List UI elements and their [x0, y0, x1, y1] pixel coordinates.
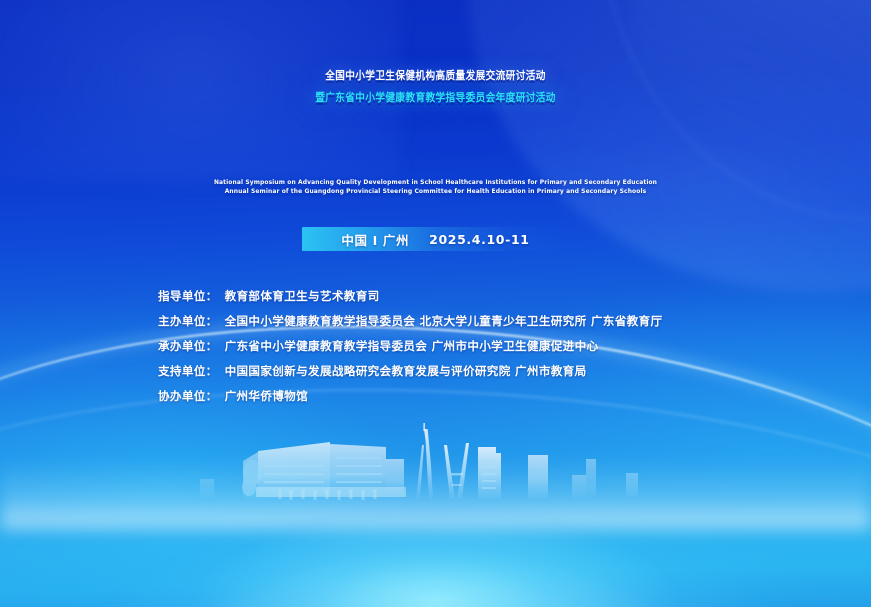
subtitle-line-2: Annual Seminar of the Guangdong Provinci… [0, 187, 871, 196]
subtitle-line-1: National Symposium on Advancing Quality … [0, 178, 871, 187]
organization-value: 教育部体育卫生与艺术教育司 [225, 288, 380, 304]
organization-label: 指导单位： [158, 288, 218, 304]
subtitle-block: National Symposium on Advancing Quality … [0, 178, 871, 197]
main-title-line-1: 全国中小学卫生保健机构高质量发展交流研讨活动 [0, 71, 871, 83]
organization-label: 协办单位： [158, 388, 218, 404]
organization-value: 全国中小学健康教育教学指导委员会 北京大学儿童青少年卫生研究所 广东省教育厅 [225, 313, 663, 329]
bottom-floor-glow [0, 467, 871, 607]
title-block: 全国中小学卫生保健机构高质量发展交流研讨活动 暨广东省中小学健康教育教学指导委员… [0, 72, 871, 105]
organization-row: 支持单位： 中国国家创新与发展战略研究会教育发展与评价研究院 广州市教育局 [158, 363, 662, 388]
organization-row: 承办单位： 广东省中小学健康教育教学指导委员会 广州市中小学卫生健康促进中心 [158, 338, 662, 363]
organization-value: 广州华侨博物馆 [225, 388, 308, 404]
organization-row: 主办单位： 全国中小学健康教育教学指导委员会 北京大学儿童青少年卫生研究所 广东… [158, 313, 662, 338]
organization-label: 承办单位： [158, 338, 218, 354]
organization-label: 支持单位： [158, 363, 218, 379]
organization-row: 协办单位： 广州华侨博物馆 [158, 388, 662, 413]
organization-row: 指导单位： 教育部体育卫生与艺术教育司 [158, 288, 662, 313]
badge-wrapper: 中国 I 广州 2025.4.10-11 [0, 227, 871, 251]
main-title-line-2: 暨广东省中小学健康教育教学指导委员会年度研讨活动 [0, 94, 871, 106]
organization-list: 指导单位： 教育部体育卫生与艺术教育司 主办单位： 全国中小学健康教育教学指导委… [158, 288, 662, 413]
organization-value: 中国国家创新与发展战略研究会教育发展与评价研究院 广州市教育局 [225, 363, 587, 379]
location-date-badge: 中国 I 广州 2025.4.10-11 [302, 227, 570, 251]
badge-location: 中国 I 广州 [341, 230, 409, 249]
organization-label: 主办单位： [158, 313, 218, 329]
organization-value: 广东省中小学健康教育教学指导委员会 广州市中小学卫生健康促进中心 [225, 338, 599, 354]
conference-poster: 全国中小学卫生保健机构高质量发展交流研讨活动 暨广东省中小学健康教育教学指导委员… [0, 0, 871, 607]
badge-date: 2025.4.10-11 [429, 232, 529, 247]
